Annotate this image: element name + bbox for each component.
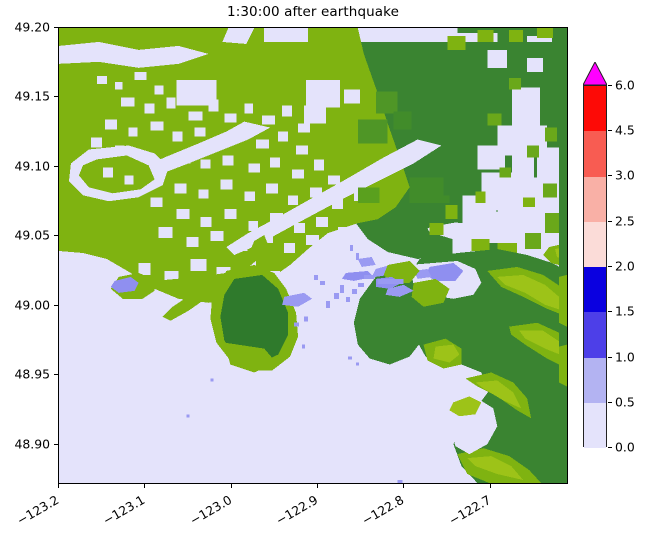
chart-title: 1:30:00 after earthquake: [58, 4, 568, 20]
colorbar-tick-mark: [608, 311, 612, 312]
x-tick-mark: [403, 484, 404, 488]
y-tick-label: 49.20: [0, 20, 50, 35]
x-tick-mark: [317, 484, 318, 488]
x-tick-label: −123.0: [187, 492, 234, 528]
colorbar-tick-label: 2.5: [615, 214, 635, 229]
colorbar-tick-label: 3.0: [615, 168, 635, 183]
x-tick-label: −122.7: [446, 492, 493, 528]
y-tick-label: 49.00: [0, 298, 50, 313]
x-tick-label: −123.1: [100, 492, 147, 528]
colorbar-tick-label: 0.5: [615, 395, 635, 410]
x-tick-mark: [144, 484, 145, 488]
colorbar-band: [584, 403, 606, 448]
map-heatmap: [58, 27, 568, 484]
x-tick-label: −122.9: [273, 492, 320, 528]
y-tick-label: 49.05: [0, 228, 50, 243]
colorbar-tick-mark: [608, 357, 612, 358]
colorbar-band: [584, 177, 606, 222]
colorbar-band: [584, 267, 606, 312]
colorbar-tick-mark: [608, 402, 612, 403]
x-tick-mark: [58, 484, 59, 488]
x-tick-label: −122.8: [359, 492, 406, 528]
figure-canvas: 1:30:00 after earthquake 49.20 49.15 49.…: [0, 0, 646, 536]
colorbar-band: [584, 86, 606, 131]
colorbar-tick-mark: [608, 266, 612, 267]
colorbar-bands: [583, 85, 607, 447]
colorbar-tick-mark: [608, 175, 612, 176]
colorbar-tick-label: 1.0: [615, 350, 635, 365]
colorbar-tick-mark: [608, 85, 612, 86]
colorbar-band: [584, 131, 606, 176]
colorbar-tick-label: 6.0: [615, 78, 635, 93]
x-tick-label: −123.2: [14, 492, 61, 528]
colorbar-extend-arrow: [583, 62, 607, 85]
colorbar-tick-label: 0.0: [615, 440, 635, 455]
colorbar-tick-mark: [608, 130, 612, 131]
colorbar-tick-label: 2.0: [615, 259, 635, 274]
colorbar-tick-mark: [608, 221, 612, 222]
colorbar-band: [584, 222, 606, 267]
y-tick-label: 49.15: [0, 89, 50, 104]
x-tick-mark: [231, 484, 232, 488]
colorbar-tick-mark: [608, 447, 612, 448]
colorbar-tick-label: 1.5: [615, 304, 635, 319]
y-tick-label: 48.90: [0, 437, 50, 452]
colorbar-tick-label: 4.5: [615, 123, 635, 138]
x-tick-mark: [490, 484, 491, 488]
colorbar-band: [584, 358, 606, 403]
colorbar-band: [584, 312, 606, 357]
y-tick-label: 48.95: [0, 367, 50, 382]
y-tick-label: 49.10: [0, 159, 50, 174]
